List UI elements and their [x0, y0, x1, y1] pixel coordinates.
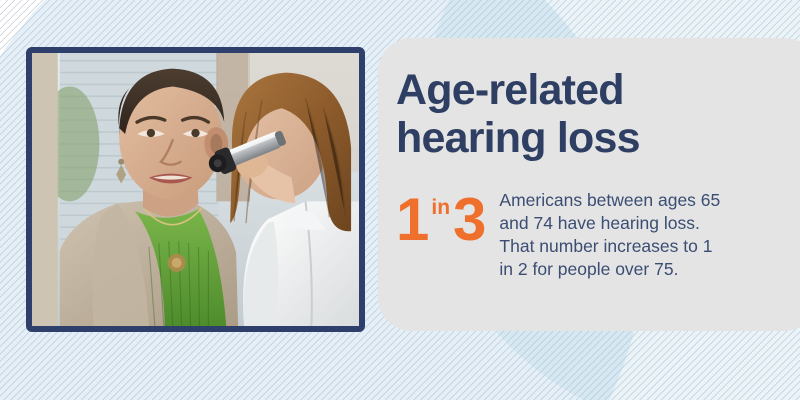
statistic-description: Americans between ages 65 and 74 have he…: [499, 186, 724, 281]
infographic-root: Age-related hearing loss 1 in 3 American…: [0, 0, 800, 400]
headline-line-2: hearing loss: [396, 114, 726, 162]
statistic-numerator: 1: [396, 190, 428, 250]
statistic-fraction: 1 in 3: [396, 186, 485, 250]
headline-line-1: Age-related: [396, 66, 726, 114]
otoscope-exam-illustration: [32, 53, 359, 326]
statistic-block: 1 in 3 Americans between ages 65 and 74 …: [396, 186, 786, 281]
statistic-denominator: 3: [453, 190, 485, 250]
photo-image: [32, 53, 359, 326]
statistic-connector: in: [428, 197, 453, 218]
page-title: Age-related hearing loss: [396, 66, 726, 162]
photo-frame: [26, 47, 365, 332]
